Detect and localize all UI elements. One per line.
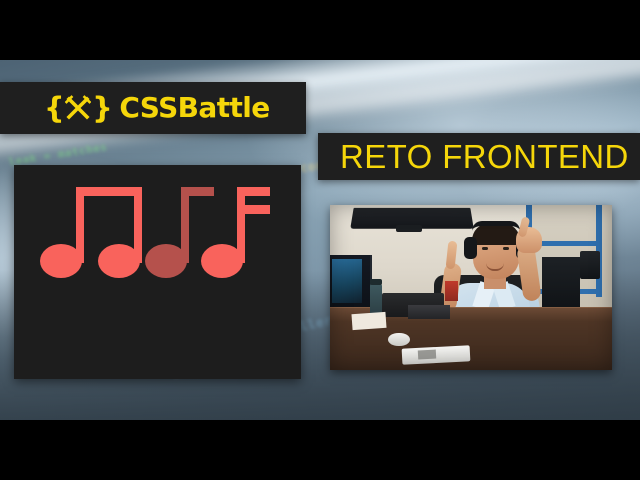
letterbox-bar-bottom [0, 420, 640, 480]
presenter-webcam-inset [330, 205, 612, 370]
cssbattle-wordmark: CSSBattle [119, 94, 269, 122]
tv-mount [396, 225, 422, 232]
sixteenth-note-icon [201, 187, 270, 278]
crossed-swords-icon [65, 95, 91, 121]
computer-mouse [388, 333, 410, 346]
logo-brace-open: { [44, 94, 64, 123]
person-eye-right [503, 247, 509, 250]
cssbattle-logo: { } CSSBattle [44, 94, 270, 123]
music-notes-artwork [14, 165, 301, 379]
beamed-eighth-notes-icon [40, 187, 142, 278]
speaker-icon [580, 251, 600, 279]
cssbattle-target-output-panel [14, 165, 301, 379]
headphone-band-icon [472, 221, 520, 231]
logo-brace-close: } [92, 94, 112, 123]
keyboard-spacebar [418, 350, 436, 360]
person-eye-left [482, 247, 488, 250]
video-frame: leak = matches controller directions_ a[… [0, 0, 640, 480]
headphone-earcup-left [464, 237, 477, 259]
books-stack [408, 305, 450, 319]
red-box [445, 281, 458, 301]
monitor-screen [332, 259, 362, 303]
reto-frontend-title: RETO FRONTEND [340, 140, 629, 173]
letterbox-bar-top [0, 0, 640, 60]
paper-sheets [351, 312, 386, 330]
water-bottle-cap [370, 279, 382, 285]
cssbattle-logo-banner: { } CSSBattle [0, 82, 306, 134]
reto-frontend-title-banner: RETO FRONTEND [318, 133, 640, 180]
